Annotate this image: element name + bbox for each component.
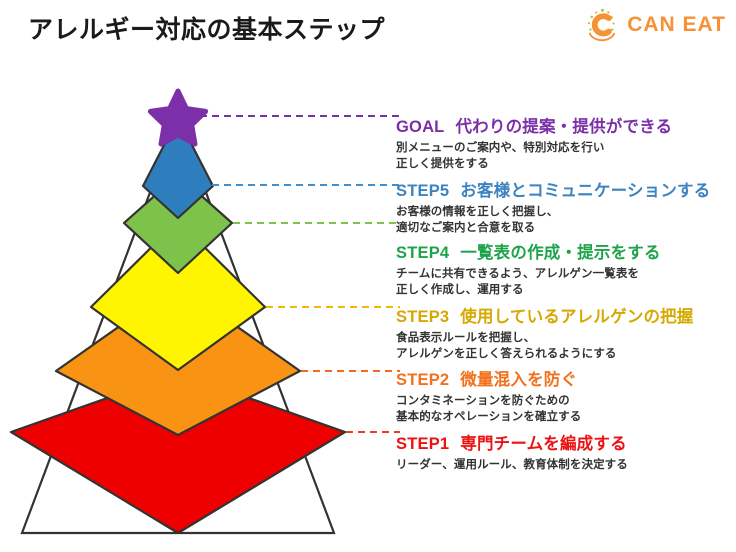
step-desc-step5-line2: 適切なご案内と合意を取る	[396, 220, 736, 236]
step-label-step3: STEP3	[396, 308, 449, 326]
page-title: アレルギー対応の基本ステップ	[28, 10, 385, 46]
step-block-step3: STEP3使用しているアレルゲンの把握 食品表示ルールを把握し、 アレルゲンを正…	[396, 307, 736, 362]
step-heading-step2: STEP2微量混入を防ぐ	[396, 370, 736, 391]
step-desc-step5-line1: お客様の情報を正しく把握し、	[396, 204, 736, 220]
step-desc-step4-line1: チームに共有できるよう、アレルゲン一覧表を	[396, 266, 736, 282]
step-label-step1: STEP1	[396, 435, 449, 453]
step-label-goal: GOAL	[396, 118, 444, 136]
allergy-response-pyramid	[0, 58, 400, 547]
step-desc-step3-line2: アレルゲンを正しく答えられるようにする	[396, 346, 736, 362]
step-heading-step3: STEP3使用しているアレルゲンの把握	[396, 307, 736, 328]
step-desc-goal-line2: 正しく提供をする	[396, 156, 736, 172]
step-heading-goal: GOAL代わりの提案・提供ができる	[396, 117, 736, 138]
step-title-goal: 代わりの提案・提供ができる	[455, 118, 672, 136]
step-block-step1: STEP1専門チームを編成する リーダー、運用ルール、教育体制を決定する	[396, 434, 736, 473]
step-label-step5: STEP5	[396, 182, 449, 200]
step-label-step4: STEP4	[396, 244, 449, 262]
step-label-step2: STEP2	[396, 371, 449, 389]
step-title-step5: お客様とコミュニケーションする	[460, 182, 710, 200]
step-block-goal: GOAL代わりの提案・提供ができる 別メニューのご案内や、特別対応を行い 正しく…	[396, 117, 736, 172]
step-title-step3: 使用しているアレルゲンの把握	[460, 308, 693, 326]
step-desc-step2-line1: コンタミネーションを防ぐための	[396, 393, 736, 409]
step-desc-step4-line2: 正しく作成し、運用する	[396, 282, 736, 298]
steps-list: GOAL代わりの提案・提供ができる 別メニューのご案内や、特別対応を行い 正しく…	[396, 0, 736, 547]
step-block-step5: STEP5お客様とコミュニケーションする お客様の情報を正しく把握し、 適切なご…	[396, 181, 736, 236]
step-heading-step5: STEP5お客様とコミュニケーションする	[396, 181, 736, 202]
step-desc-step2-line2: 基本的なオペレーションを確立する	[396, 409, 736, 425]
step-block-step2: STEP2微量混入を防ぐ コンタミネーションを防ぐための 基本的なオペレーション…	[396, 370, 736, 425]
step-heading-step4: STEP4一覧表の作成・提示をする	[396, 243, 736, 264]
step-desc-step1-line1: リーダー、運用ルール、教育体制を決定する	[396, 457, 736, 473]
step-block-step4: STEP4一覧表の作成・提示をする チームに共有できるよう、アレルゲン一覧表を …	[396, 243, 736, 298]
step-desc-goal-line1: 別メニューのご案内や、特別対応を行い	[396, 140, 736, 156]
pyramid-goal-star-icon	[150, 91, 205, 144]
step-desc-step3-line1: 食品表示ルールを把握し、	[396, 330, 736, 346]
step-heading-step1: STEP1専門チームを編成する	[396, 434, 736, 455]
step-title-step2: 微量混入を防ぐ	[460, 371, 577, 389]
step-title-step4: 一覧表の作成・提示をする	[460, 244, 660, 262]
step-title-step1: 専門チームを編成する	[460, 435, 627, 453]
